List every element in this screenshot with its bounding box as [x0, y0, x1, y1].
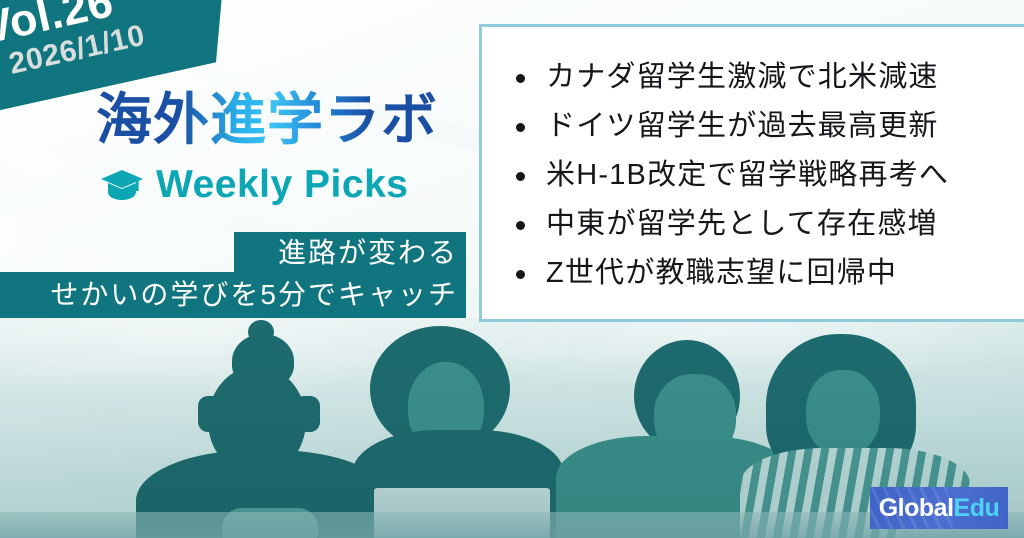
newsletter-banner: Vol.26 2026/1/10 海外進学ラボ Weekly Picks 進路が…: [0, 0, 1024, 538]
weekly-picks-label: Weekly Picks: [156, 165, 408, 204]
headline-card: カナダ留学生激減で北米減速 ドイツ留学生が過去最高更新 米H-1B改定で留学戦略…: [479, 24, 1024, 322]
logo-primary-text: Global: [879, 494, 954, 523]
list-item: 中東が留学先として存在感増: [546, 200, 1024, 249]
logo-accent-text: Edu: [954, 494, 1000, 523]
list-item: Z世代が教職志望に回帰中: [546, 249, 1024, 298]
caption-line-2: せかいの学びを5分でキャッチ: [0, 272, 466, 318]
caption-line-1: 進路が変わる: [234, 232, 466, 276]
graduation-cap-icon: [100, 168, 144, 202]
globaledu-logo: GlobalEdu: [870, 487, 1008, 529]
headline-list: カナダ留学生激減で北米減速 ドイツ留学生が過去最高更新 米H-1B改定で留学戦略…: [482, 27, 1024, 298]
brand-title: 海外進学ラボ: [96, 89, 438, 152]
list-item: カナダ留学生激減で北米減速: [546, 53, 1024, 102]
list-item: ドイツ留学生が過去最高更新: [546, 102, 1024, 151]
list-item: 米H-1B改定で留学戦略再考へ: [546, 151, 1024, 200]
weekly-picks-row: Weekly Picks: [100, 165, 408, 204]
